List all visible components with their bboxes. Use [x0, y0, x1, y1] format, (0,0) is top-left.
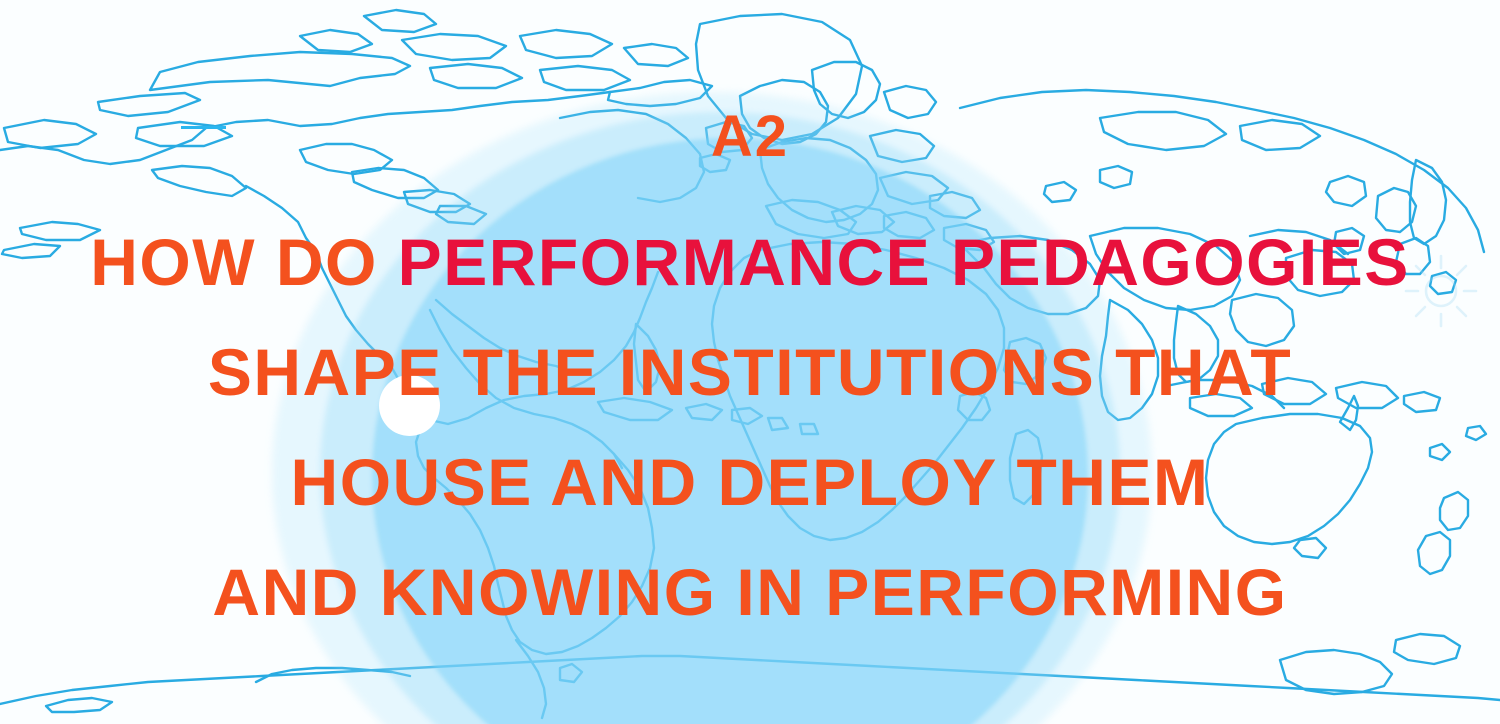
headline-line-2: SHAPE THE INSTITUTIONS THAT — [0, 317, 1500, 427]
slide-headline: HOW DO PERFORMANCE PEDAGOGIES SHAPE THE … — [0, 207, 1500, 647]
headline-line-1: HOW DO PERFORMANCE PEDAGOGIES — [0, 207, 1500, 317]
headline-line-3: HOUSE AND DEPLOY THEM — [0, 427, 1500, 537]
presentation-slide: A2 HOW DO PERFORMANCE PEDAGOGIES SHAPE T… — [0, 0, 1500, 724]
slide-text-block: A2 HOW DO PERFORMANCE PEDAGOGIES SHAPE T… — [0, 0, 1500, 724]
headline-line-4: AND KNOWING IN PERFORMING — [0, 537, 1500, 647]
slide-eyebrow-label: A2 — [0, 108, 1500, 166]
headline-line-1-primary: HOW DO — [90, 225, 397, 299]
headline-line-1-accent: PERFORMANCE PEDAGOGIES — [398, 225, 1410, 299]
